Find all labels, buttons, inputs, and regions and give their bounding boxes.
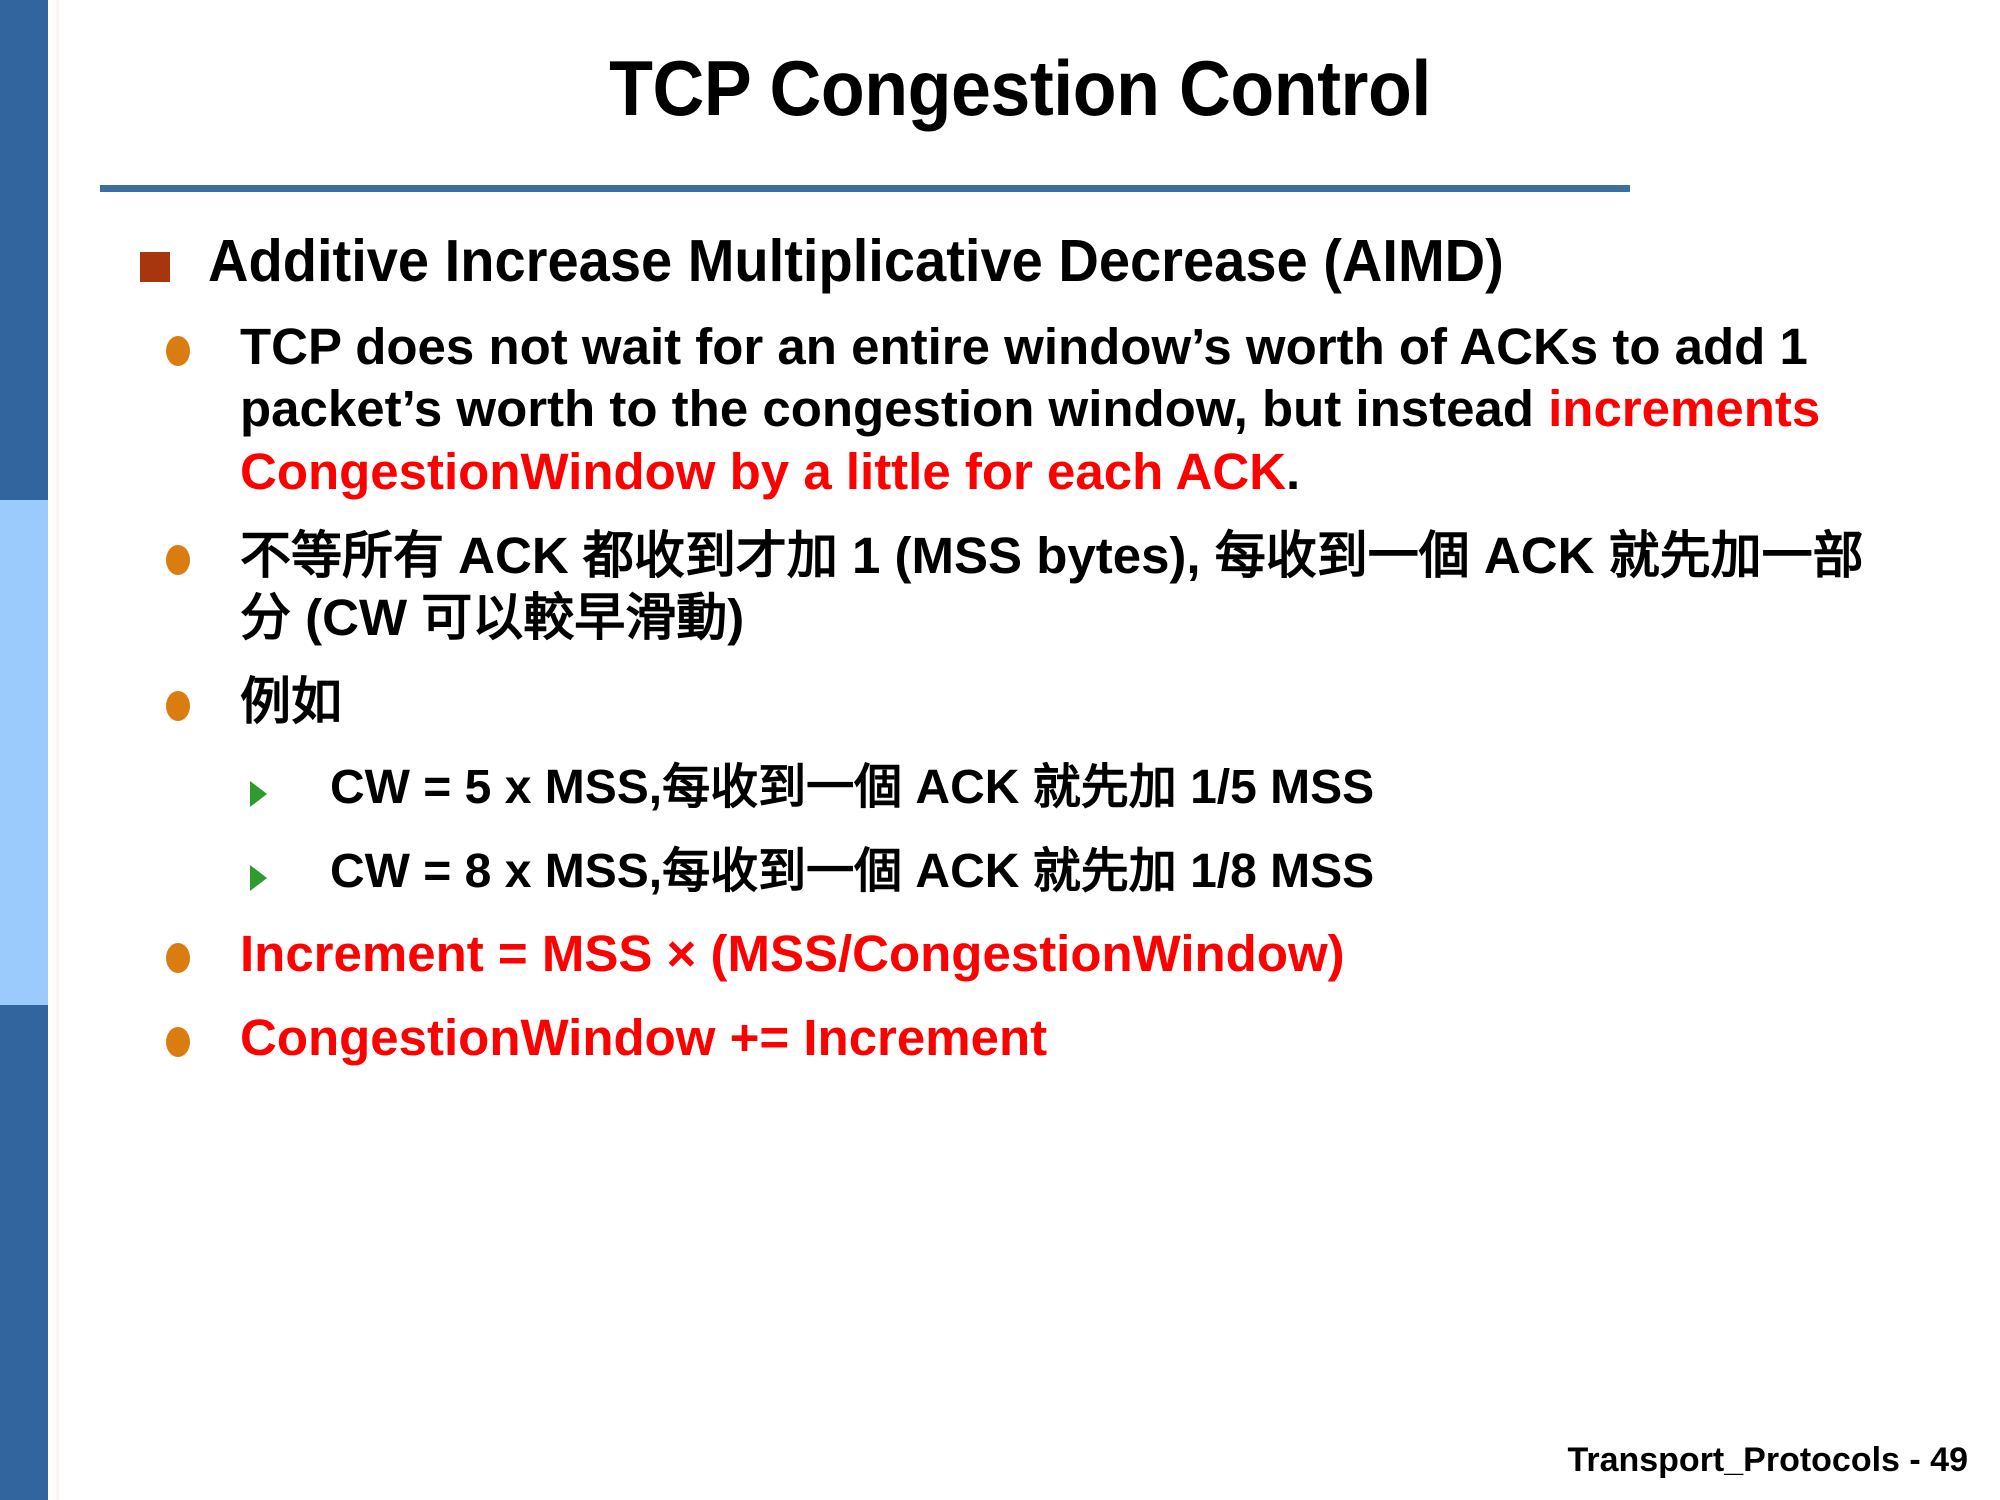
bullet-example-cw-8-label: CW = 8 x MSS,每收到一個 ACK 就先加 1/8 MSS — [330, 843, 1374, 901]
bullet-example-heading-segment-0: 例如 — [240, 673, 342, 730]
bullet-example-cw-8-segment-0: CW = 8 x MSS,每收到一個 ACK 就先加 1/8 MSS — [330, 845, 1374, 898]
bullet-example-heading-label: 例如 — [240, 671, 342, 733]
sidebar-band-middle — [0, 500, 48, 1005]
sidebar-decoration — [0, 0, 48, 1500]
round-bullet-icon — [140, 525, 240, 575]
bullet-chinese-explanation: 不等所有 ACK 都收到才加 1 (MSS bytes), 每收到一個 ACK … — [140, 525, 1970, 649]
triangle-bullet-icon — [140, 843, 330, 891]
square-bullet-icon — [140, 228, 208, 282]
bullet-example-cw-8: CW = 8 x MSS,每收到一個 ACK 就先加 1/8 MSS — [140, 843, 1970, 901]
title-underline-rule — [100, 185, 1630, 192]
bullet-increment-formula-segment-0: Increment = MSS × (MSS/CongestionWindow) — [240, 925, 1345, 982]
bullet-congestionwindow-update: CongestionWindow += Increment — [140, 1007, 1970, 1069]
bullet-example-cw-5-segment-0: CW = 5 x MSS,每收到一個 ACK 就先加 1/5 MSS — [330, 761, 1374, 814]
bullet-example-cw-5: CW = 5 x MSS,每收到一個 ACK 就先加 1/5 MSS — [140, 759, 1970, 817]
bullet-tcp-does-not-wait-segment-2: . — [1286, 443, 1300, 500]
sidebar-band-top — [0, 0, 48, 500]
sidebar-gap — [48, 0, 56, 1500]
bullet-chinese-explanation-label: 不等所有 ACK 都收到才加 1 (MSS bytes), 每收到一個 ACK … — [240, 525, 1880, 649]
round-bullet-icon — [140, 316, 240, 366]
sidebar-hairline — [56, 0, 59, 1500]
bullet-chinese-explanation-segment-0: 不等所有 ACK 都收到才加 1 (MSS bytes), 每收到一個 ACK … — [240, 527, 1864, 646]
slide-title: TCP Congestion Control — [174, 48, 1867, 130]
round-bullet-icon — [140, 1007, 240, 1057]
bullet-congestionwindow-update-segment-0: CongestionWindow += Increment — [240, 1009, 1047, 1066]
slide-body: Additive Increase Multiplicative Decreas… — [140, 228, 1970, 1069]
bullet-tcp-does-not-wait-label: TCP does not wait for an entire window’s… — [240, 316, 1880, 503]
round-bullet-icon — [140, 671, 240, 721]
bullet-level1-label: Additive Increase Multiplicative Decreas… — [208, 228, 1504, 294]
bullet-tcp-does-not-wait: TCP does not wait for an entire window’s… — [140, 316, 1970, 503]
bullet-level1-aimd: Additive Increase Multiplicative Decreas… — [140, 228, 1970, 294]
sidebar-band-bottom — [0, 1005, 48, 1500]
bullet-increment-formula: Increment = MSS × (MSS/CongestionWindow) — [140, 923, 1970, 985]
slide: TCP Congestion Control Additive Increase… — [0, 0, 2000, 1500]
bullet-congestionwindow-update-label: CongestionWindow += Increment — [240, 1007, 1047, 1069]
bullet-example-cw-5-label: CW = 5 x MSS,每收到一個 ACK 就先加 1/5 MSS — [330, 759, 1374, 817]
slide-footer: Transport_Protocols - 49 — [1567, 1441, 1968, 1480]
round-bullet-icon — [140, 923, 240, 973]
triangle-bullet-icon — [140, 759, 330, 807]
bullet-example-heading: 例如 — [140, 671, 1970, 733]
bullet-list: TCP does not wait for an entire window’s… — [140, 316, 1970, 1069]
bullet-increment-formula-label: Increment = MSS × (MSS/CongestionWindow) — [240, 923, 1345, 985]
